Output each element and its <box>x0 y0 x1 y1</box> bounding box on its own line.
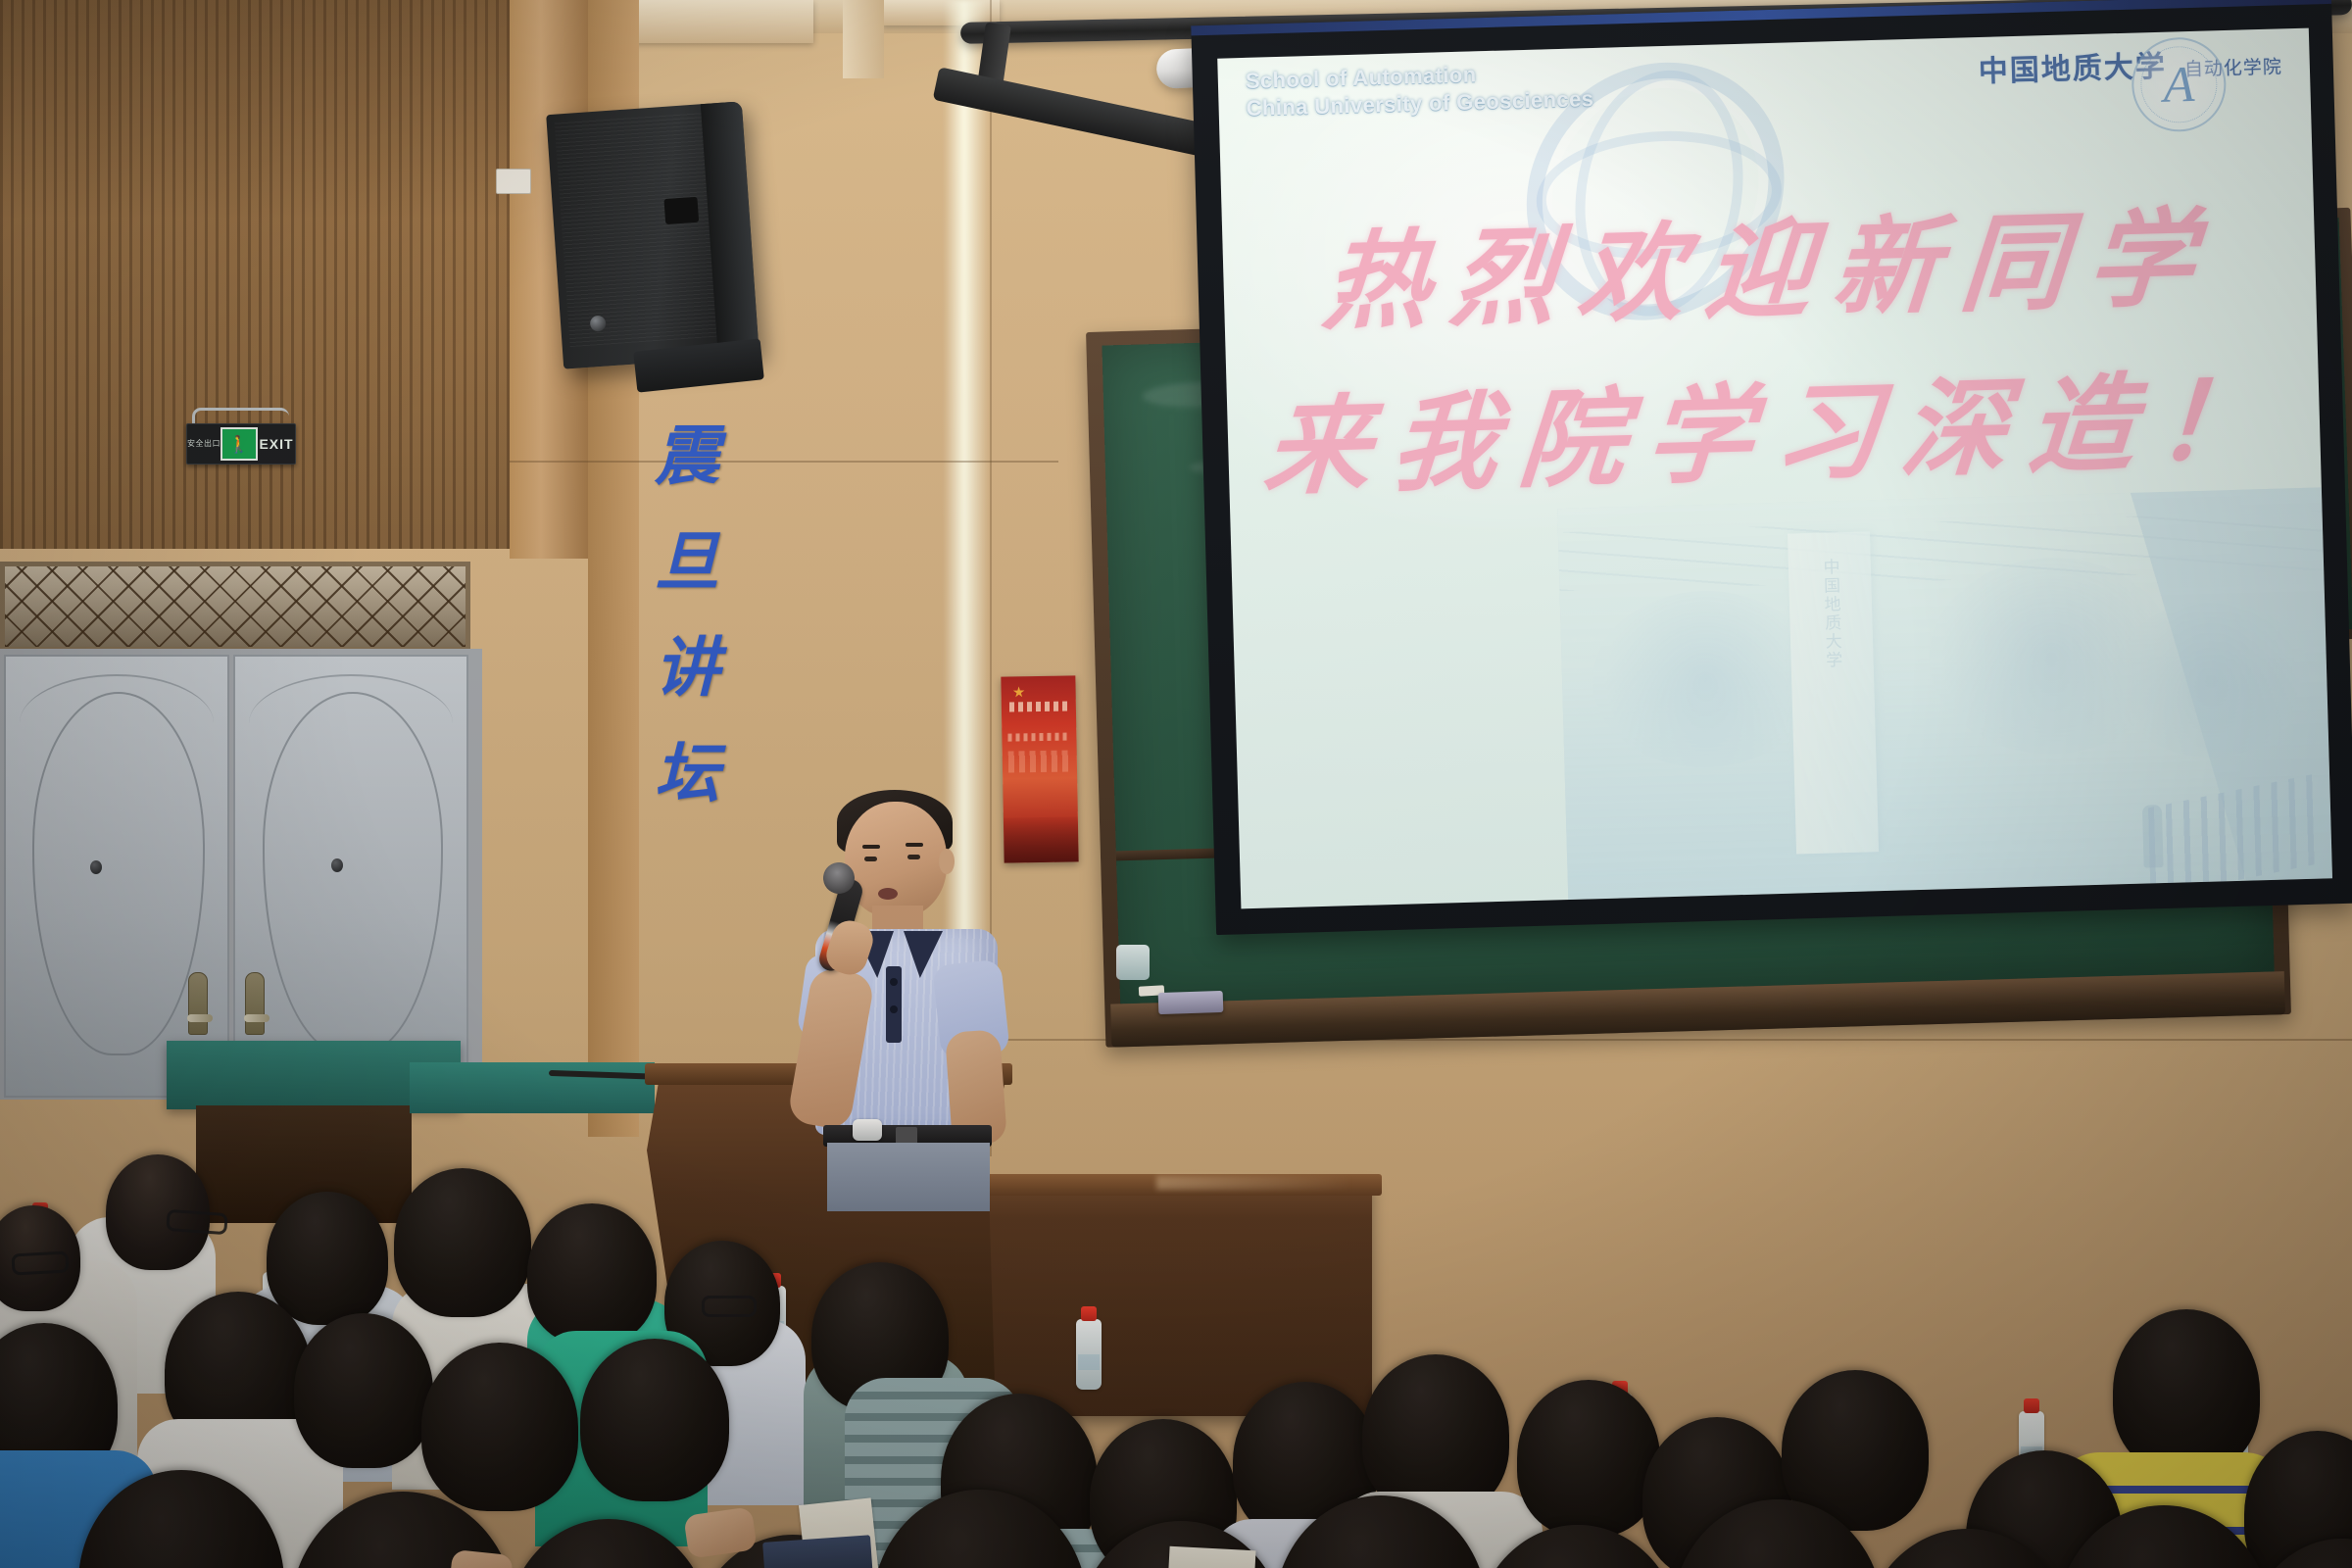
wall-calligraphy-banner: 震旦讲坛 <box>635 421 725 902</box>
loudspeaker-cabinet <box>546 101 759 368</box>
eyeglasses <box>11 1250 69 1275</box>
handout-paper[interactable] <box>1166 1546 1255 1568</box>
audience-head <box>2113 1309 2260 1474</box>
lecture-hall-photo: 安全出口 🚶 EXIT 震旦讲坛 Lee <box>0 0 2352 1568</box>
poster-star-icon <box>1013 686 1025 698</box>
door-handle-left[interactable] <box>188 972 208 1035</box>
door-panel-oval <box>263 692 442 1055</box>
presenter-eye-left <box>864 857 877 861</box>
photo-powerlines <box>1558 511 2324 591</box>
exit-sign-chinese: 安全出口 <box>187 440 220 448</box>
door-knob-right[interactable] <box>331 858 343 872</box>
speaker-grille <box>555 112 719 347</box>
door-panel-oval <box>32 692 205 1055</box>
audience-head <box>421 1343 578 1511</box>
eyeglasses <box>166 1209 227 1235</box>
door-lever-right[interactable] <box>244 1014 269 1022</box>
presenter-brow-left <box>862 845 880 849</box>
lattice-grille-icon <box>5 566 465 647</box>
slide-title: 热烈欢迎新同学 来我院学习深造！ <box>1221 175 2322 534</box>
exit-sign-english: EXIT <box>258 436 295 452</box>
speaker-port <box>663 197 699 224</box>
presenter-button-2 <box>890 1005 898 1013</box>
slide-title-line1: 热烈欢迎新同学 <box>1217 174 2321 369</box>
door-handle-right[interactable] <box>245 972 265 1035</box>
wood-panel-shading <box>0 0 510 549</box>
audience-head <box>294 1313 433 1468</box>
presenter-brow-right <box>906 843 923 847</box>
presenter-button-1 <box>890 978 898 986</box>
running-person-icon: 🚶 <box>220 427 258 461</box>
photo-fence <box>2148 774 2317 899</box>
logo-ring <box>2139 45 2218 123</box>
wall-pilaster-3 <box>843 0 884 78</box>
audience <box>0 1029 2352 1568</box>
audience-head <box>527 1203 657 1345</box>
wall-seam-h1 <box>510 461 1058 463</box>
chalk-eraser <box>1158 991 1224 1014</box>
presenter-eye-right <box>907 855 920 859</box>
door-lever-left[interactable] <box>187 1014 213 1022</box>
water-bottle <box>1076 1319 1102 1390</box>
exit-sign: 安全出口 🚶 EXIT <box>186 423 296 465</box>
slide-header-chinese: 中国地质大学 自动化学院 <box>1978 38 2282 90</box>
campus-gate-inscription: 中国地质大学 <box>1817 558 1844 670</box>
eyeglasses <box>702 1296 757 1317</box>
campus-gate-pillar: 中国地质大学 <box>1788 531 1879 855</box>
door-knob-left[interactable] <box>90 860 102 874</box>
slide-campus-photo: 中国地质大学 <box>1557 487 2332 900</box>
audience-head <box>580 1339 729 1501</box>
water-bottle-on-ledge <box>1116 945 1150 980</box>
presentation-slide: School of Automation China University of… <box>1217 28 2332 909</box>
poster-subtitle-line <box>1007 732 1070 741</box>
poster-title-line <box>1009 701 1070 711</box>
transom-window <box>0 562 470 652</box>
wall-outlet <box>496 169 531 194</box>
audience-head <box>394 1168 531 1317</box>
poster-body-lines <box>1008 750 1071 772</box>
presenter-ear <box>939 849 955 874</box>
wall-calligraphy-text: 震旦讲坛 <box>648 421 712 845</box>
projection-screen: School of Automation China University of… <box>1191 0 2352 935</box>
audience-head <box>1517 1380 1660 1537</box>
presenter-mouth <box>878 888 898 900</box>
audience-hand <box>449 1549 514 1568</box>
slide-header-english: School of Automation China University of… <box>1245 58 1593 122</box>
audience-head <box>267 1192 388 1325</box>
